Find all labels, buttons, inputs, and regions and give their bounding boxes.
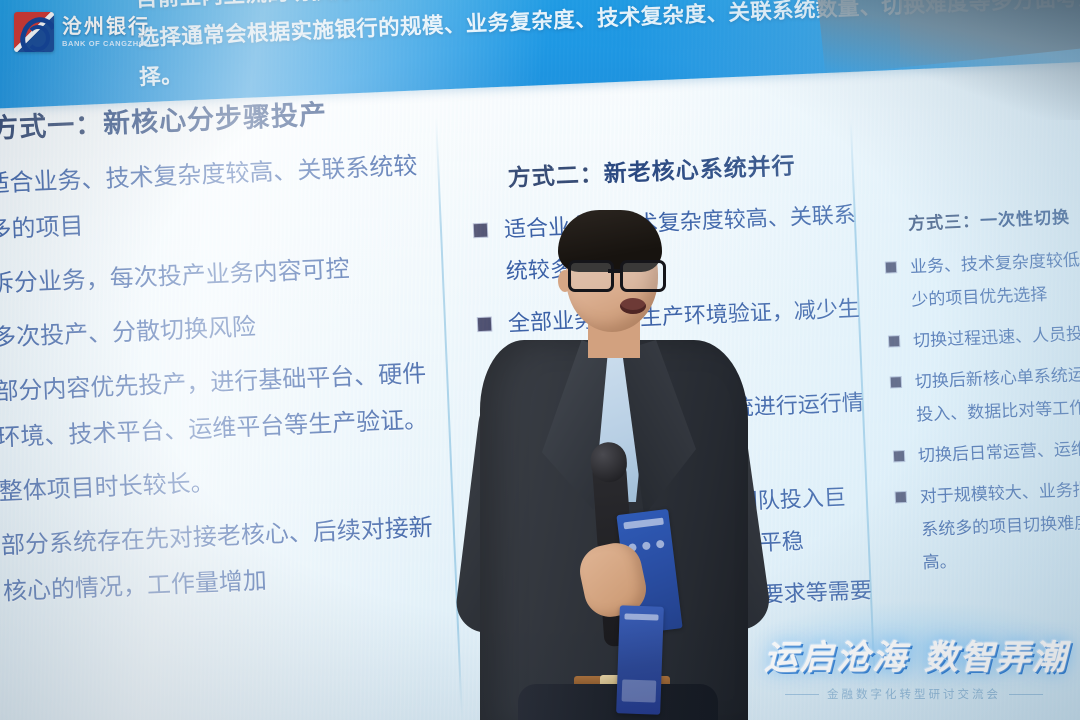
bank-logo: 沧州银行 BANK OF CANGZHOU	[14, 10, 174, 54]
microphone-flag-dot	[656, 540, 665, 549]
column-method-three: 方式三：一次性切换 业务、技术复杂度较低、关联系统较少的项目优先选择 切换过程迅…	[882, 198, 1080, 588]
bullet-square-icon	[886, 262, 896, 272]
column-three-bullets: 业务、技术复杂度较低、关联系统较少的项目优先选择 切换过程迅速、人员投入较少 切…	[883, 239, 1080, 581]
speaker-mouth	[620, 298, 646, 314]
conference-photo: 信创环境的切换方式 目前业内主流的切换方式为三种：新老核心系统并行使用、新核心分…	[0, 0, 1080, 720]
list-item: 切换后日常运营、运维成本较低	[891, 428, 1080, 474]
list-item: 切换后新核心单系统运行，无需二次投入、数据比对等工作	[888, 354, 1080, 433]
list-item-text: 部分内容优先投产，进行基础平台、硬件环境、技术平台、运维平台等生产验证。	[0, 360, 429, 451]
bank-swirl-inner-shape	[26, 25, 50, 51]
list-item-text: 对于规模较大、业务指标较多、关联系统多的项目切换难度大，切换风险高。	[919, 476, 1080, 573]
glasses-lens-left	[568, 260, 614, 292]
glasses-lens-right	[620, 260, 666, 292]
list-item-text: 业务、技术复杂度较低、关联系统较少的项目优先选择	[910, 246, 1080, 310]
bank-emblem-icon	[14, 12, 54, 52]
column-one-label: 方式一：	[0, 109, 104, 144]
column-one-bullets: 适合业务、技术复杂度较高、关联系统较多的项目 拆分业务，每次投产业务内容可控 多…	[0, 143, 440, 617]
bullet-square-icon	[891, 377, 901, 387]
bullet-square-icon	[889, 336, 899, 346]
list-item: 对于规模较大、业务指标较多、关联系统多的项目切换难度大，切换风险高。	[893, 469, 1080, 581]
column-divider-1	[435, 118, 463, 718]
list-item-text: 切换过程迅速、人员投入较少	[913, 322, 1080, 350]
glasses-bridge	[608, 269, 622, 273]
bank-name-en: BANK OF CANGZHOU	[62, 40, 151, 48]
slide-intro-text: 目前业内主流的切换方式为三种：新老核心系统并行使用、新核心分步骤投产、一次性切换…	[135, 0, 1080, 97]
list-item-text: 切换后日常运营、运维成本较低	[918, 436, 1080, 465]
column-three-title: 方式三：一次性切换	[908, 198, 1080, 235]
column-two-name: 新老核心系统并行	[603, 152, 796, 186]
list-item-text: 部分系统存在先对接老核心、后续对接新核心的情况，工作量增加	[1, 514, 434, 605]
microphone-flag-title	[623, 518, 664, 530]
column-two-label: 方式二：	[507, 161, 604, 191]
badge-body-bar	[622, 679, 657, 702]
bullet-square-icon	[896, 492, 906, 502]
list-item: 部分内容优先投产，进行基础平台、硬件环境、技术平台、运维平台等生产验证。	[0, 351, 433, 463]
list-item-text: 切换后新核心单系统运行，无需二次投入、数据比对等工作	[915, 361, 1080, 425]
list-item: 部分系统存在先对接老核心、后续对接新核心的情况，工作量增加	[0, 505, 440, 617]
bank-name-cn: 沧州银行	[62, 17, 151, 38]
list-item-text: 多次投产、分散切换风险	[0, 314, 257, 352]
list-item-text: 整体项目时长较长。	[0, 470, 215, 506]
list-item: 适合业务、技术复杂度较高、关联系统较多的项目	[0, 143, 424, 255]
column-three-name: 一次性切换	[980, 208, 1071, 231]
list-item-text: 适合业务、技术复杂度较高、关联系统较多的项目	[0, 153, 418, 244]
bank-name-block: 沧州银行 BANK OF CANGZHOU	[62, 17, 151, 48]
microphone-flag-dot	[642, 541, 651, 550]
bullet-square-icon	[894, 451, 904, 461]
list-item: 业务、技术复杂度较低、关联系统较少的项目优先选择	[883, 239, 1080, 318]
speaker-figure	[470, 214, 770, 720]
speaker-glasses-icon	[566, 260, 662, 286]
speaker-name-badge	[616, 605, 664, 714]
column-one-name: 新核心分步骤投产	[102, 99, 327, 139]
column-method-one: 方式一：新核心分步骤投产 适合业务、技术复杂度较高、关联系统较多的项目 拆分业务…	[0, 88, 440, 625]
list-item: 切换过程迅速、人员投入较少	[886, 313, 1080, 359]
column-two-title: 方式二：新老核心系统并行	[507, 143, 868, 192]
badge-header-bar	[624, 613, 658, 620]
column-three-label: 方式三：	[908, 212, 981, 234]
list-item-text: 拆分业务，每次投产业务内容可控	[0, 256, 350, 298]
